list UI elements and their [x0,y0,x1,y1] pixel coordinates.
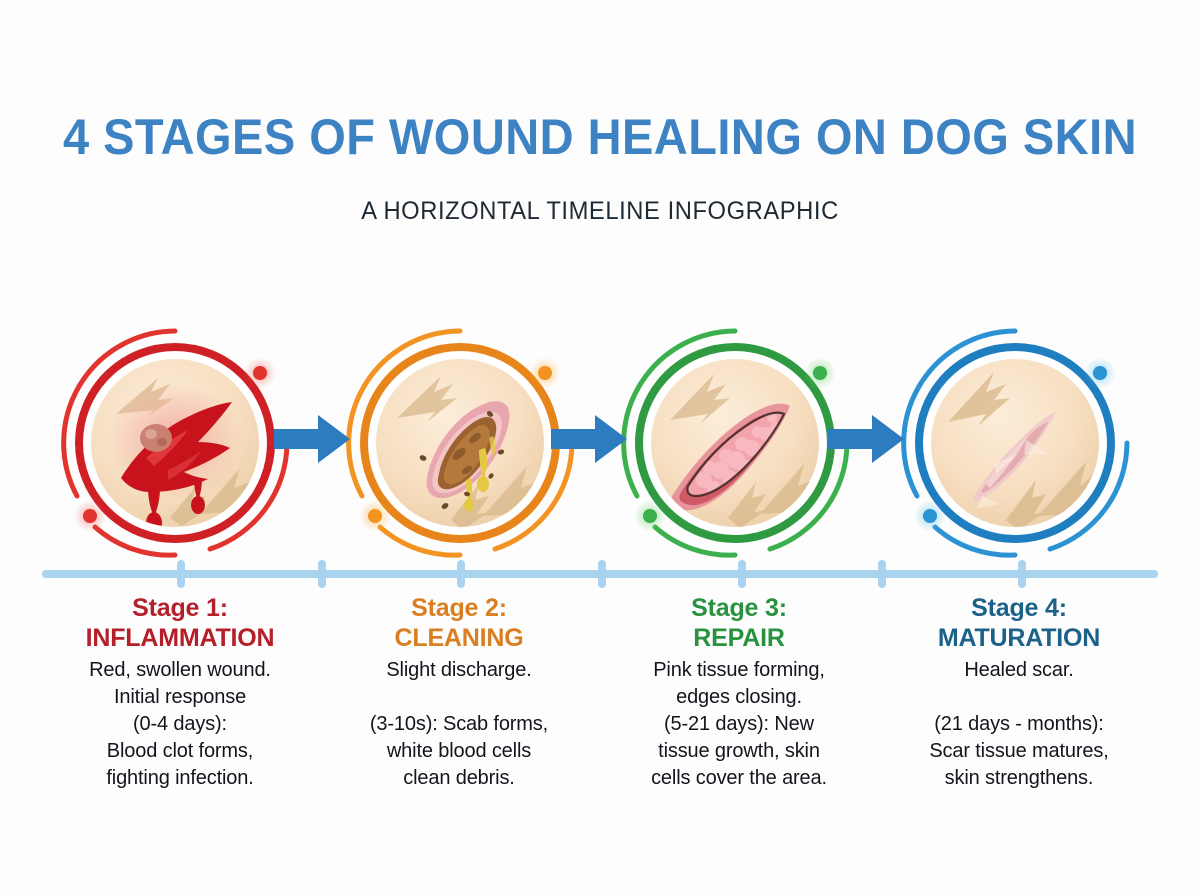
stage-2-name: CLEANING [318,623,600,653]
stage-4-name: MATURATION [878,623,1160,653]
stage-3-label: Stage 3: [598,594,880,623]
arrow-stage-1-to-2 [274,411,350,467]
accent-dot-bottom [359,500,391,532]
stage-4-caption: Stage 4: MATURATION Healed scar. (21 day… [878,594,1160,792]
page-title: 4 STAGES OF WOUND HEALING ON DOG SKIN [36,0,1164,166]
page-subtitle: A HORIZONTAL TIMELINE INFOGRAPHIC [30,166,1170,226]
accent-dot-bottom [74,500,106,532]
stage-4-description: Healed scar. (21 days - months): Scar ti… [878,657,1160,792]
stage-1-name: INFLAMMATION [39,623,321,653]
stage-3-description: Pink tissue forming, edges closing. (5-2… [598,657,880,792]
accent-dot-top [804,357,836,389]
stage-2-illustration [335,318,585,568]
stage-3-illustration [610,318,860,568]
stage-1-caption: Stage 1: INFLAMMATION Red, swollen wound… [39,594,321,792]
timeline-axis [0,552,1200,596]
accent-dot-top [529,357,561,389]
stage-2-description: Slight discharge. (3-10s): Scab forms, w… [318,657,600,792]
arrow-stage-2-to-3 [551,411,627,467]
stage-1-description: Red, swollen wound. Initial response (0-… [39,657,321,792]
infographic-root: 4 STAGES OF WOUND HEALING ON DOG SKIN A … [0,0,1200,896]
stage-2-caption: Stage 2: CLEANING Slight discharge. (3-1… [318,594,600,792]
stage-4-label: Stage 4: [878,594,1160,623]
accent-dot-top [244,357,276,389]
stage-1-illustration [50,318,300,568]
header: 4 STAGES OF WOUND HEALING ON DOG SKIN A … [0,0,1200,226]
stage-4-illustration [890,318,1140,568]
stage-captions: Stage 1: INFLAMMATION Red, swollen wound… [0,594,1200,824]
arrow-stage-3-to-4 [828,411,904,467]
stage-1-label: Stage 1: [39,594,321,623]
stage-3-name: REPAIR [598,623,880,653]
stage-2-label: Stage 2: [318,594,600,623]
stage-3-caption: Stage 3: REPAIR Pink tissue forming, edg… [598,594,880,792]
accent-dot-bottom [634,500,666,532]
accent-dot-top [1084,357,1116,389]
accent-dot-bottom [914,500,946,532]
